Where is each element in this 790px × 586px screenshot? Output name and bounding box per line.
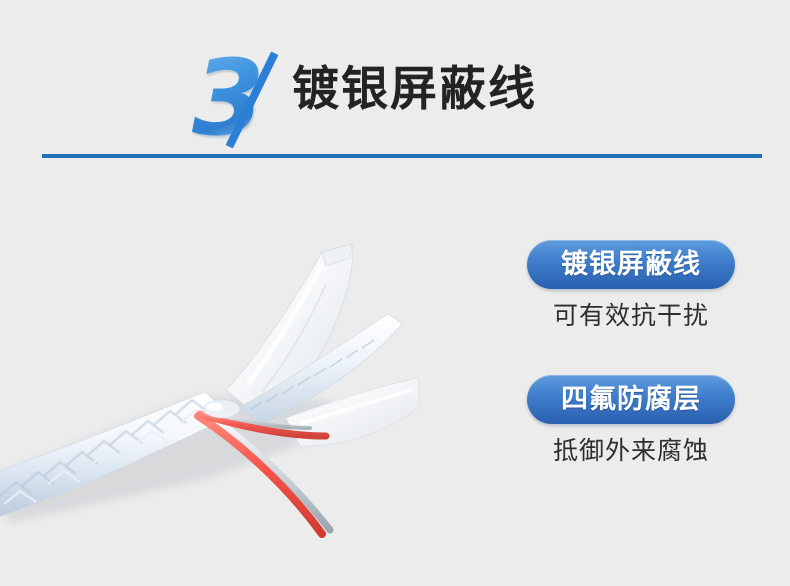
header-divider: [42, 154, 762, 158]
cut-edge-highlight: [204, 400, 240, 418]
page-title: 镀银屏蔽线: [292, 62, 537, 116]
banner-header: 3 3 镀银屏蔽线: [0, 0, 790, 160]
feature-subtitle: 抵御外来腐蚀: [527, 436, 735, 466]
feature-list: 镀银屏蔽线 可有效抗干扰 四氟防腐层 抵御外来腐蚀: [527, 240, 759, 510]
status-badge: 镀银屏蔽线: [527, 240, 735, 289]
silver-plated-shielded-cable-photo: [0, 178, 500, 538]
feature-item: 镀银屏蔽线 可有效抗干扰: [527, 240, 759, 331]
feature-subtitle: 可有效抗干扰: [527, 301, 735, 331]
badge-label: 镀银屏蔽线: [561, 251, 701, 278]
cable-illustration: [0, 178, 500, 538]
status-badge: 四氟防腐层: [527, 375, 735, 424]
badge-label: 四氟防腐层: [561, 386, 701, 413]
product-feature-banner: 3 3 镀银屏蔽线: [0, 0, 790, 586]
feature-item: 四氟防腐层 抵御外来腐蚀: [527, 375, 759, 466]
